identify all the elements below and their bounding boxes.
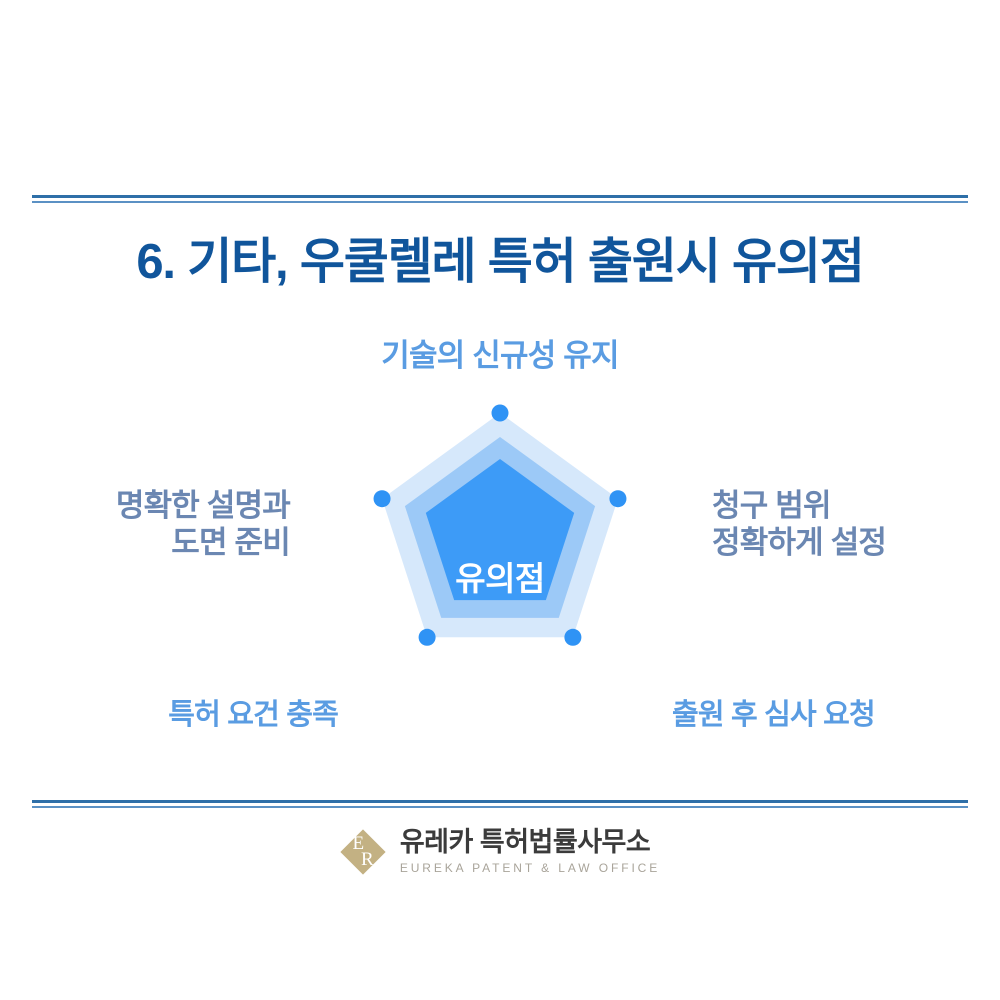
node-label-clear-description-line2: 도면 준비: [116, 525, 290, 562]
logo-monogram: E R: [340, 829, 386, 875]
logo-text-block: 유레카 특허법률사무소 EUREKA PATENT & LAW OFFICE: [400, 828, 660, 875]
node-label-patent-requirements: 특허 요건 충족: [168, 698, 338, 732]
page-title: 6. 기타, 우쿨렐레 특허 출원시 유의점: [0, 222, 1000, 293]
footer-logo: E R 유레카 특허법률사무소 EUREKA PATENT & LAW OFFI…: [0, 828, 1000, 875]
logo-monogram-letter-r: R: [361, 852, 374, 868]
node-label-claim-scope: 청구 범위 정확하게 설정: [712, 488, 886, 561]
node-label-claim-scope-line2: 정확하게 설정: [712, 525, 886, 562]
rule-thin-line: [32, 806, 968, 808]
vertex-dot-bottom-right: [564, 629, 581, 646]
vertex-dot-bottom-left: [419, 629, 436, 646]
vertex-dot-left: [374, 490, 391, 507]
node-label-clear-description-line1: 명확한 설명과: [116, 488, 290, 525]
node-label-claim-scope-line1: 청구 범위: [712, 488, 886, 525]
node-label-clear-description: 명확한 설명과 도면 준비: [116, 488, 290, 561]
bottom-divider-rule: [32, 800, 968, 808]
diamond-logo-icon: E R: [340, 829, 386, 875]
node-label-examination-request: 출원 후 심사 요청: [672, 698, 875, 732]
pentagon-diagram: 유의점 기술의 신규성 유지 명확한 설명과 도면 준비 청구 범위 정확하게 …: [0, 320, 1000, 780]
firm-name-korean: 유레카 특허법률사무소: [400, 828, 660, 856]
vertex-dot-right: [609, 490, 626, 507]
node-label-technology-novelty: 기술의 신규성 유지: [0, 338, 1000, 375]
vertex-dot-top: [492, 405, 509, 422]
rule-thin-line: [32, 201, 968, 203]
top-divider-rule: [32, 195, 968, 203]
firm-name-english: EUREKA PATENT & LAW OFFICE: [400, 861, 660, 875]
